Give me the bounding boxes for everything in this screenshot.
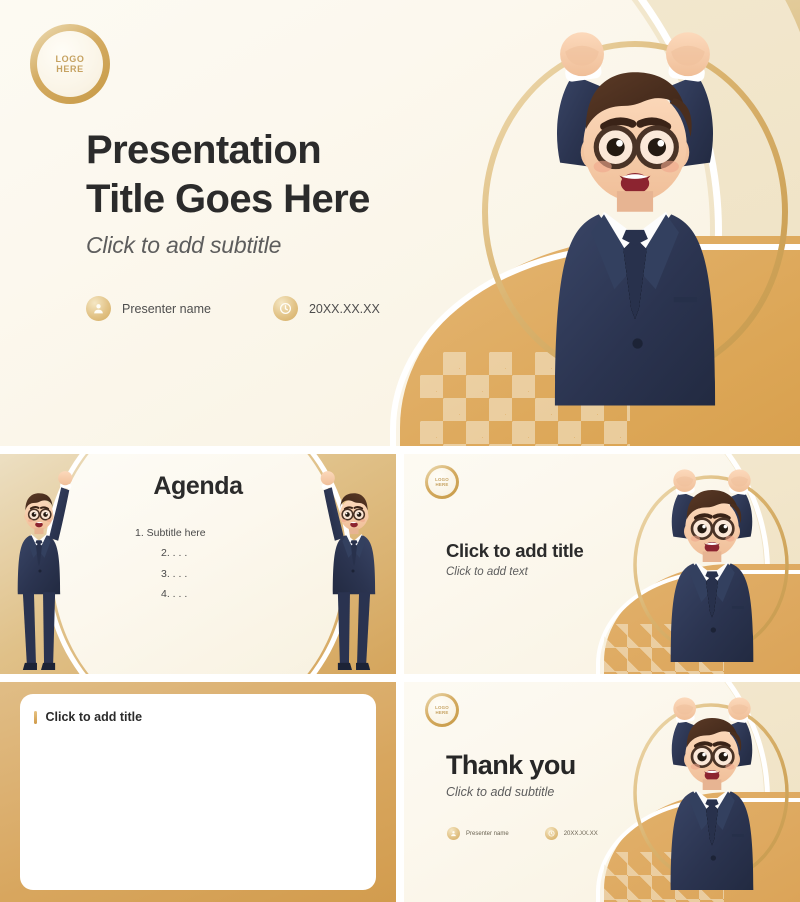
agenda-title[interactable]: Agenda	[0, 472, 396, 501]
hero-text-block: Presentation Title Goes Here Click to ad…	[86, 126, 370, 259]
agenda-item[interactable]: 4. . . .	[135, 584, 273, 604]
blank-slide-title[interactable]: Click to add title	[46, 710, 143, 724]
logo-line-2: HERE	[436, 482, 449, 487]
user-icon	[86, 296, 111, 321]
content-title[interactable]: Click to add title	[446, 540, 583, 562]
thankyou-subtitle[interactable]: Click to add subtitle	[446, 785, 576, 799]
businessman-cheering-icon	[632, 462, 792, 662]
slide-content[interactable]: LOGO HERE Click to add title Click to ad…	[404, 454, 800, 674]
page-title[interactable]: Presentation Title Goes Here	[86, 126, 370, 224]
slide-row-3: Click to add title LOGO HERE	[0, 682, 800, 902]
user-icon	[447, 827, 460, 840]
agenda-item[interactable]: 1. Subtitle here	[135, 523, 273, 543]
businessman-cheering-icon	[632, 690, 792, 890]
slide-deck: LOGO HERE Presentation Title Goes Here C…	[0, 0, 800, 902]
agenda-list: 1. Subtitle here 2. . . . 3. . . . 4. . …	[123, 523, 273, 605]
presentation-date: 20XX.XX.XX	[309, 302, 380, 316]
agenda-content: Agenda 1. Subtitle here 2. . . . 3. . . …	[0, 472, 396, 605]
presenter-name: Presenter name	[466, 831, 509, 837]
thankyou-title[interactable]: Thank you	[446, 750, 576, 781]
content-text[interactable]: Click to add text	[446, 566, 583, 578]
logo-badge[interactable]: LOGO HERE	[428, 468, 456, 496]
presenter-name: Presenter name	[122, 302, 211, 316]
clock-icon	[545, 827, 558, 840]
presenter-item[interactable]: Presenter name	[86, 296, 211, 321]
logo-line-2: HERE	[56, 64, 83, 74]
agenda-item[interactable]: 3. . . .	[135, 564, 273, 584]
content-card[interactable]: Click to add title	[20, 694, 376, 890]
hero-meta-row: Presenter name 20XX.XX.XX	[86, 296, 380, 321]
logo-line-2: HERE	[436, 710, 449, 715]
slide-title[interactable]: LOGO HERE Presentation Title Goes Here C…	[0, 0, 800, 446]
content-text-block: Click to add title Click to add text	[446, 540, 583, 578]
clock-icon	[273, 296, 298, 321]
thankyou-text-block: Thank you Click to add subtitle	[446, 750, 576, 799]
logo-badge[interactable]: LOGO HERE	[37, 31, 103, 97]
hero-subtitle[interactable]: Click to add subtitle	[86, 232, 370, 259]
date-item[interactable]: 20XX.XX.XX	[273, 296, 380, 321]
date-item[interactable]: 20XX.XX.XX	[545, 827, 598, 840]
logo-badge[interactable]: LOGO HERE	[428, 696, 456, 724]
slide-agenda[interactable]: Agenda 1. Subtitle here 2. . . . 3. . . …	[0, 454, 396, 674]
accent-bar-icon	[34, 711, 37, 724]
presentation-date: 20XX.XX.XX	[564, 831, 598, 837]
businessman-cheering-icon	[480, 18, 790, 406]
slide-thank-you[interactable]: LOGO HERE Thank you Click to add subtitl…	[404, 682, 800, 902]
logo-line-1: LOGO	[56, 54, 85, 64]
presenter-item[interactable]: Presenter name	[447, 827, 509, 840]
thankyou-meta-row: Presenter name 20XX.XX.XX	[447, 827, 598, 840]
agenda-item[interactable]: 2. . . .	[135, 543, 273, 563]
blank-title-row: Click to add title	[34, 710, 142, 724]
slide-blank-content[interactable]: Click to add title	[0, 682, 396, 902]
slide-row-2: Agenda 1. Subtitle here 2. . . . 3. . . …	[0, 454, 800, 674]
